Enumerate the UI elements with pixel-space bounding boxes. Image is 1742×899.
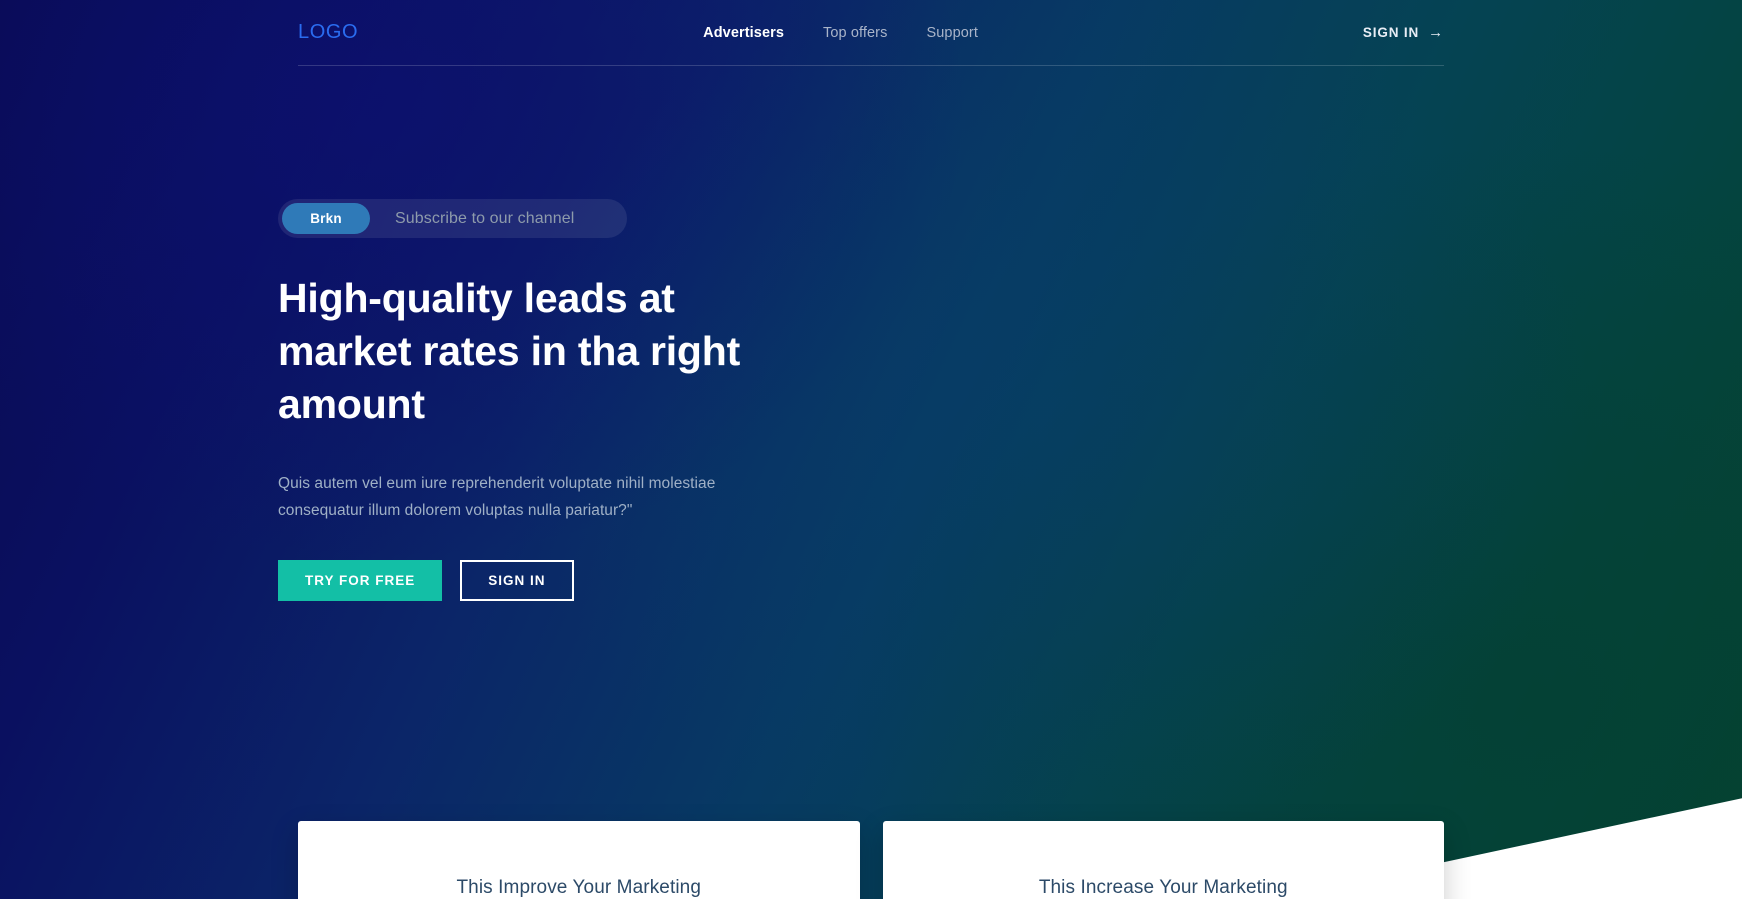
feature-card-title: This Improve Your Marketing bbox=[456, 877, 701, 899]
feature-card-title: This Increase Your Marketing bbox=[1039, 877, 1288, 899]
nav-item-support[interactable]: Support bbox=[926, 25, 978, 41]
sign-in-button[interactable]: SIGN IN bbox=[460, 560, 573, 601]
feature-card[interactable]: This Increase Your Marketing bbox=[883, 821, 1445, 899]
subscribe-pill[interactable]: Brkn Subscribe to our channel bbox=[278, 199, 627, 238]
arrow-right-icon: → bbox=[1428, 25, 1444, 40]
main-navigation: Advertisers Top offers Support bbox=[318, 25, 1363, 41]
hero-subtitle: Quis autem vel eum iure reprehenderit vo… bbox=[278, 470, 730, 524]
feature-cards: This Improve Your Marketing This Increas… bbox=[298, 821, 1444, 899]
header-signin-link[interactable]: SIGN IN → bbox=[1363, 25, 1444, 40]
pill-badge[interactable]: Brkn bbox=[282, 203, 370, 234]
feature-card[interactable]: This Improve Your Marketing bbox=[298, 821, 860, 899]
try-for-free-button[interactable]: TRY FOR FREE bbox=[278, 560, 442, 601]
page-root: LOGO Advertisers Top offers Support SIGN… bbox=[0, 0, 1742, 899]
pill-label: Subscribe to our channel bbox=[395, 210, 574, 228]
nav-item-advertisers[interactable]: Advertisers bbox=[703, 25, 784, 41]
hero-cta-row: TRY FOR FREE SIGN IN bbox=[278, 560, 574, 601]
header-signin-label: SIGN IN bbox=[1363, 25, 1419, 40]
nav-item-top-offers[interactable]: Top offers bbox=[823, 25, 887, 41]
page-title: High-quality leads at market rates in th… bbox=[278, 272, 748, 431]
site-header: LOGO Advertisers Top offers Support SIGN… bbox=[298, 0, 1444, 66]
